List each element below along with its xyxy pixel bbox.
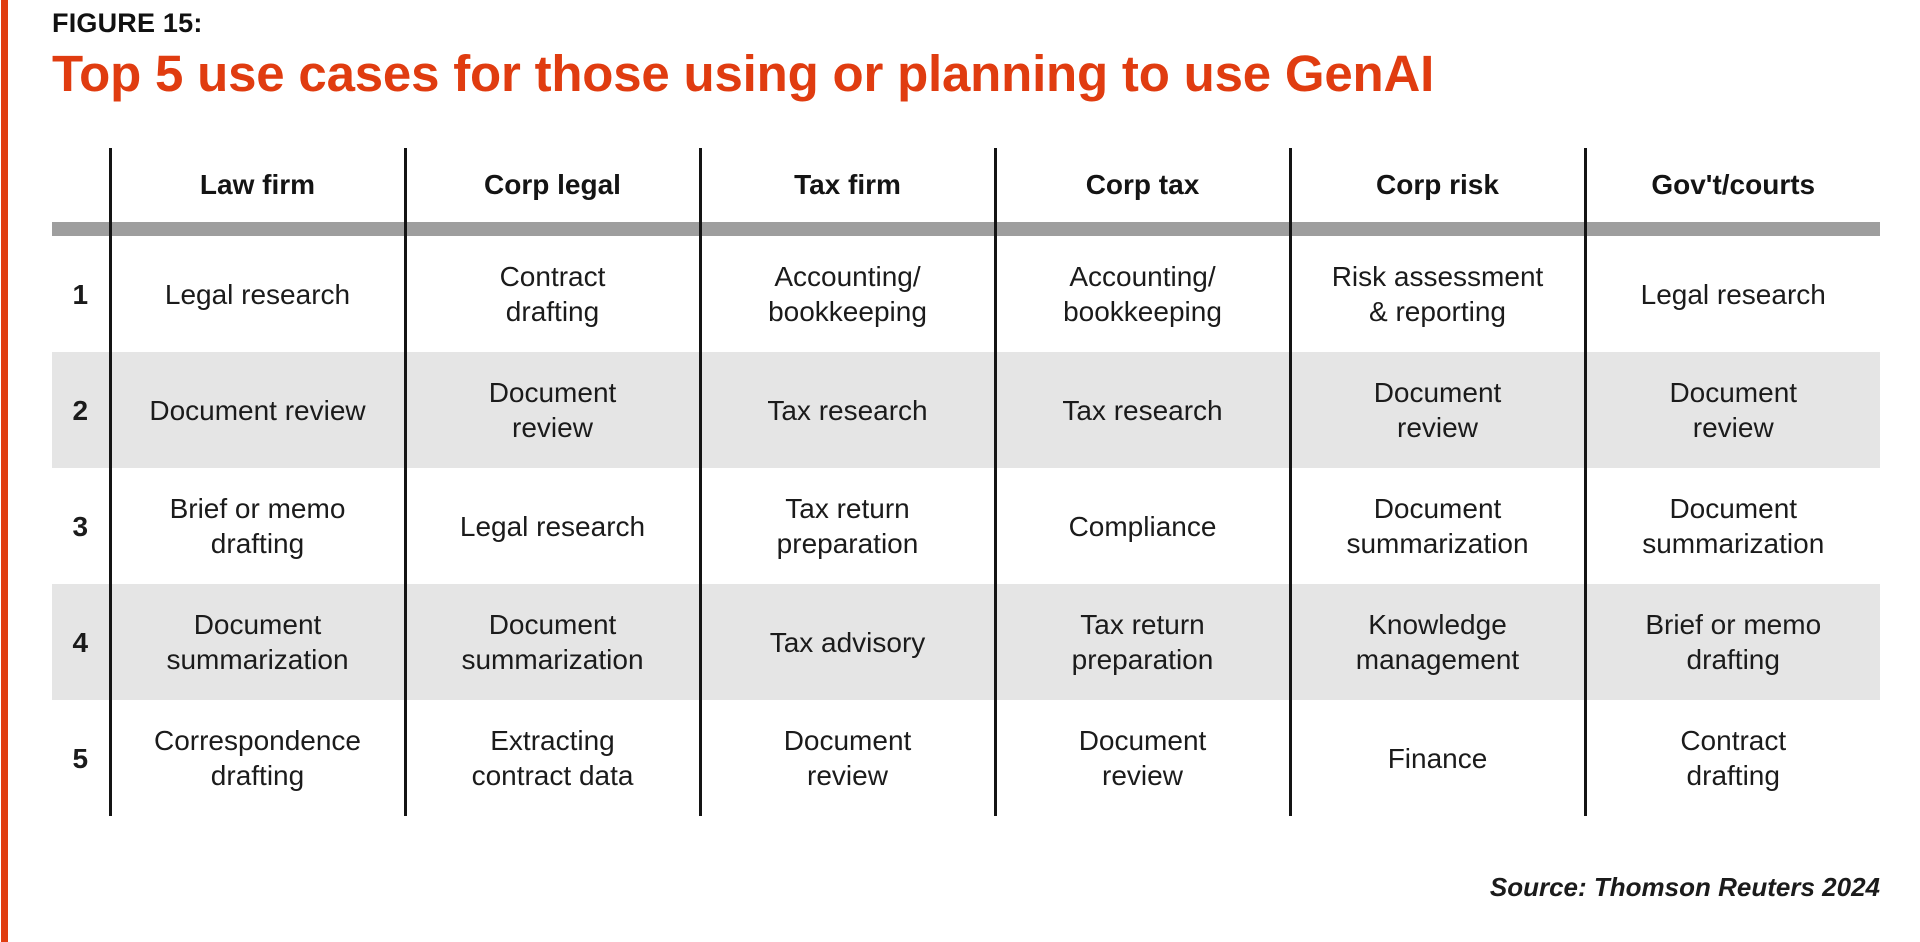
table-row: 2Document reviewDocumentreviewTax resear… — [52, 352, 1880, 468]
column-header-corp-tax: Corp tax — [995, 148, 1290, 222]
table-cell: Accounting/bookkeeping — [995, 236, 1290, 352]
table-row: 1Legal researchContractdraftingAccountin… — [52, 236, 1880, 352]
table-container: Law firm Corp legal Tax firm Corp tax Co… — [0, 148, 1920, 848]
table-cell: Tax advisory — [700, 584, 995, 700]
table-cell: Tax research — [700, 352, 995, 468]
header-rule-segment — [995, 222, 1290, 236]
figure-label: FIGURE 15: — [52, 0, 1892, 40]
table-cell: Brief or memodrafting — [1585, 584, 1880, 700]
table-cell: Brief or memodrafting — [110, 468, 405, 584]
table-cell: Documentreview — [1290, 352, 1585, 468]
row-rank: 2 — [52, 352, 110, 468]
table-cell: Tax returnpreparation — [700, 468, 995, 584]
source-note: Source: Thomson Reuters 2024 — [1490, 872, 1880, 903]
row-rank: 5 — [52, 700, 110, 816]
table-cell: Finance — [1290, 700, 1585, 816]
table-row: 4DocumentsummarizationDocumentsummarizat… — [52, 584, 1880, 700]
table-cell: Documentsummarization — [110, 584, 405, 700]
table-cell: Documentsummarization — [1585, 468, 1880, 584]
table-header-row: Law firm Corp legal Tax firm Corp tax Co… — [52, 148, 1880, 222]
header-rule-segment — [405, 222, 700, 236]
column-header-govt-courts: Gov't/courts — [1585, 148, 1880, 222]
header-rule-segment — [52, 222, 110, 236]
table-cell: Documentsummarization — [1290, 468, 1585, 584]
column-header-rank — [52, 148, 110, 222]
page-title: Top 5 use cases for those using or plann… — [52, 44, 1892, 104]
table-cell: Knowledgemanagement — [1290, 584, 1585, 700]
use-cases-table: Law firm Corp legal Tax firm Corp tax Co… — [52, 148, 1880, 816]
row-rank: 1 — [52, 236, 110, 352]
table-cell: Compliance — [995, 468, 1290, 584]
table-cell: Contractdrafting — [1585, 700, 1880, 816]
header-rule-segment — [1290, 222, 1585, 236]
table-cell: Documentreview — [1585, 352, 1880, 468]
table-cell: Correspondencedrafting — [110, 700, 405, 816]
table-cell: Legal research — [1585, 236, 1880, 352]
column-header-corp-legal: Corp legal — [405, 148, 700, 222]
table-row: 3Brief or memodraftingLegal researchTax … — [52, 468, 1880, 584]
table-cell: Legal research — [110, 236, 405, 352]
table-cell: Tax research — [995, 352, 1290, 468]
table-cell: Documentreview — [995, 700, 1290, 816]
table-body: 1Legal researchContractdraftingAccountin… — [52, 236, 1880, 816]
figure-header: FIGURE 15: Top 5 use cases for those usi… — [52, 0, 1892, 104]
header-rule-row — [52, 222, 1880, 236]
header-rule-segment — [110, 222, 405, 236]
table-cell: Legal research — [405, 468, 700, 584]
table-cell: Contractdrafting — [405, 236, 700, 352]
table-cell: Documentreview — [700, 700, 995, 816]
header-rule-segment — [1585, 222, 1880, 236]
table-cell: Document review — [110, 352, 405, 468]
table-row: 5CorrespondencedraftingExtractingcontrac… — [52, 700, 1880, 816]
table-cell: Documentreview — [405, 352, 700, 468]
table-cell: Documentsummarization — [405, 584, 700, 700]
table-cell: Tax returnpreparation — [995, 584, 1290, 700]
row-rank: 3 — [52, 468, 110, 584]
row-rank: 4 — [52, 584, 110, 700]
table-cell: Extractingcontract data — [405, 700, 700, 816]
column-header-corp-risk: Corp risk — [1290, 148, 1585, 222]
table-cell: Accounting/bookkeeping — [700, 236, 995, 352]
header-rule-segment — [700, 222, 995, 236]
column-header-law-firm: Law firm — [110, 148, 405, 222]
column-header-tax-firm: Tax firm — [700, 148, 995, 222]
table-cell: Risk assessment& reporting — [1290, 236, 1585, 352]
